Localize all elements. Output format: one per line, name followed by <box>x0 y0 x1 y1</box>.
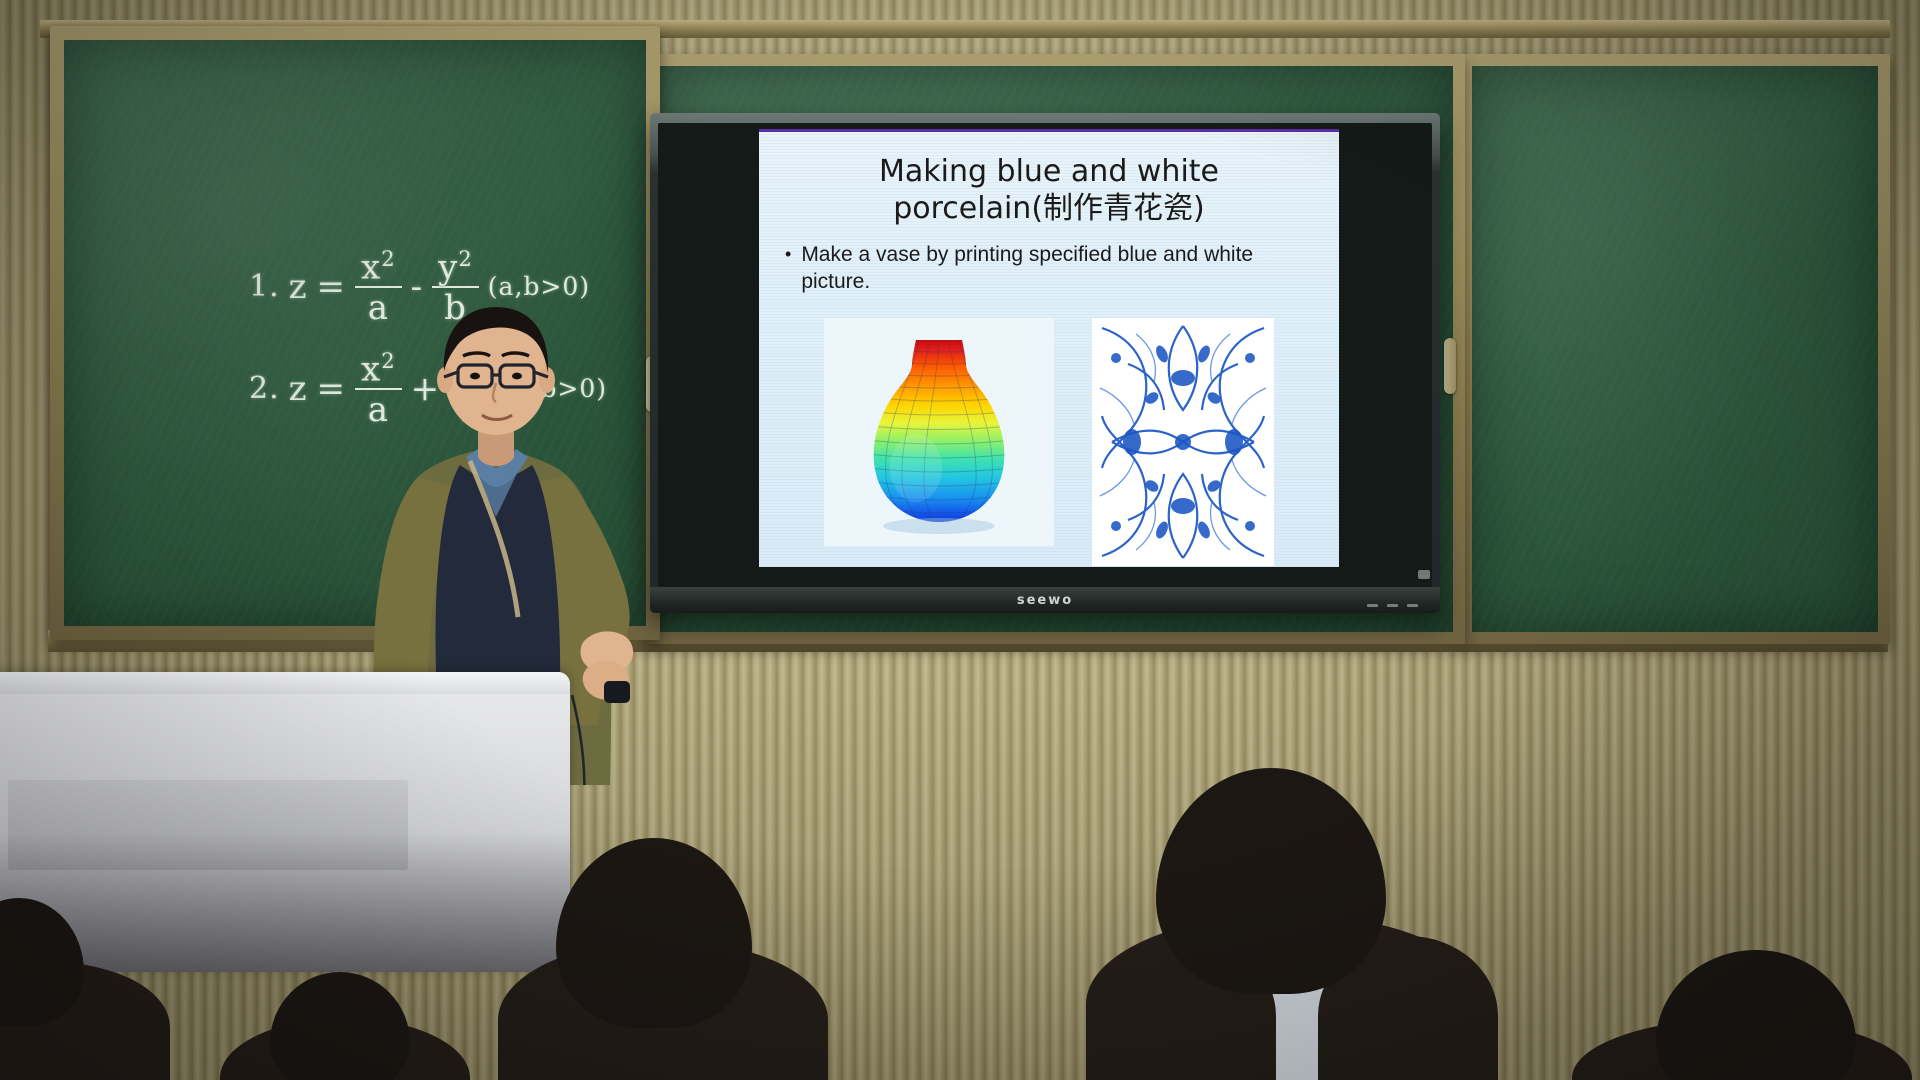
vase-surface-plot-figure <box>824 318 1054 546</box>
vase-surface-svg <box>824 318 1054 546</box>
bullet-text: Make a vase by printing specified blue a… <box>801 241 1317 296</box>
slide-title-line-1: Making blue and white <box>785 154 1313 191</box>
panel-key-3[interactable] <box>1407 604 1418 607</box>
equation-1-index: 1. <box>249 269 280 304</box>
porcelain-pattern-svg <box>1092 318 1274 566</box>
lectern-podium <box>0 672 570 972</box>
slide-title-line2-chinese: (制作青花瓷) <box>1031 191 1204 226</box>
panel-ir-sensor-icon <box>1418 570 1430 579</box>
panel-screen-area: Making blue and white porcelain(制作青花瓷) •… <box>658 123 1432 587</box>
bullet-marker-icon: • <box>785 241 791 296</box>
slide-title-line2-english: porcelain <box>893 191 1031 226</box>
equation-2-equals: = <box>317 369 347 409</box>
panel-control-keys[interactable] <box>1367 604 1418 607</box>
chalkboard-slide-handle-right[interactable] <box>1444 338 1456 394</box>
equation-1-lhs: z <box>289 267 308 307</box>
bullet-text-line-1: Make a vase by printing specified blue a… <box>801 243 1198 266</box>
lectern-shadow <box>0 832 570 972</box>
powerpoint-slide[interactable]: Making blue and white porcelain(制作青花瓷) •… <box>759 129 1339 567</box>
classroom-scene: 1. z = x2 a - y2 b (a,b>0) 2. <box>0 0 1920 1080</box>
slide-title: Making blue and white porcelain(制作青花瓷) <box>785 154 1313 227</box>
presenter-remote <box>604 681 630 703</box>
equation-2-lhs: z <box>289 369 308 409</box>
seewo-brand-logo: seewo <box>1017 593 1073 608</box>
panel-key-1[interactable] <box>1367 604 1378 607</box>
slide-title-line-2: porcelain(制作青花瓷) <box>785 191 1313 228</box>
chalkboard-surface-right <box>1472 66 1878 632</box>
chalkboard-panel-right[interactable] <box>1460 54 1890 644</box>
interactive-flat-panel[interactable]: Making blue and white porcelain(制作青花瓷) •… <box>650 113 1440 613</box>
porcelain-pattern-figure <box>1092 318 1274 566</box>
equation-1-equals: = <box>317 267 347 307</box>
slide-bullet-item: • Make a vase by printing specified blue… <box>785 241 1317 296</box>
slide-bullet-list: • Make a vase by printing specified blue… <box>785 241 1317 296</box>
panel-bottom-bezel: seewo <box>650 587 1440 613</box>
lectern-top-surface <box>0 672 570 694</box>
slide-figure-row <box>759 318 1339 566</box>
panel-key-2[interactable] <box>1387 604 1398 607</box>
equation-2-index: 2. <box>249 371 280 406</box>
